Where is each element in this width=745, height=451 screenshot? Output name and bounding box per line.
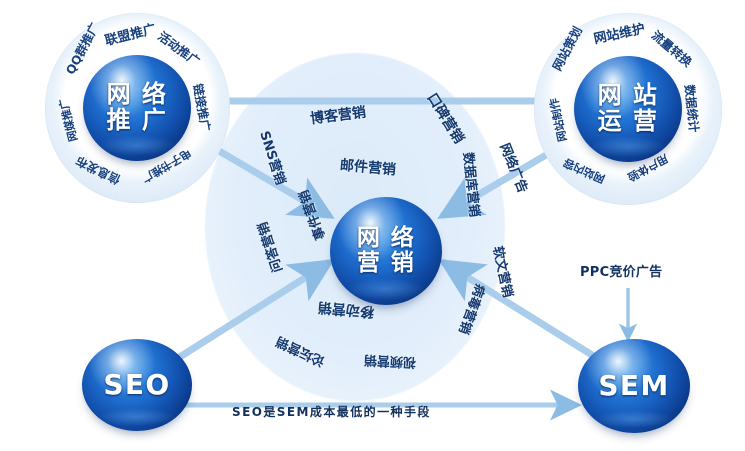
node-website-operation[interactable]: 网 站 运 营: [574, 56, 682, 162]
node-network-promotion[interactable]: 网 络 推 广: [83, 55, 191, 161]
diagram-canvas: QQ群推广 联盟推广 活动推广 链接推广 电子书推广 信息发布 网媒推广 网 络…: [0, 0, 745, 451]
node-sem[interactable]: SEM: [578, 339, 690, 433]
node-seo[interactable]: SEO: [82, 339, 192, 431]
operation-line1: 网 站: [598, 83, 659, 109]
seo-sem-caption: SEO是SEM成本最低的一种手段: [232, 403, 431, 420]
sem-label: SEM: [598, 371, 669, 401]
seo-label: SEO: [103, 370, 170, 400]
ppc-annotation: PPC竞价广告: [580, 261, 662, 280]
cloud-label-video-marketing: 视频营销: [364, 352, 417, 374]
center-network-marketing[interactable]: 网 络 营 销: [330, 197, 442, 305]
promotion-line2: 推 广: [107, 108, 168, 134]
center-line2: 营 销: [357, 251, 415, 276]
promotion-line1: 网 络: [107, 82, 168, 108]
center-line1: 网 络: [357, 226, 415, 251]
operation-line2: 运 营: [598, 109, 659, 135]
